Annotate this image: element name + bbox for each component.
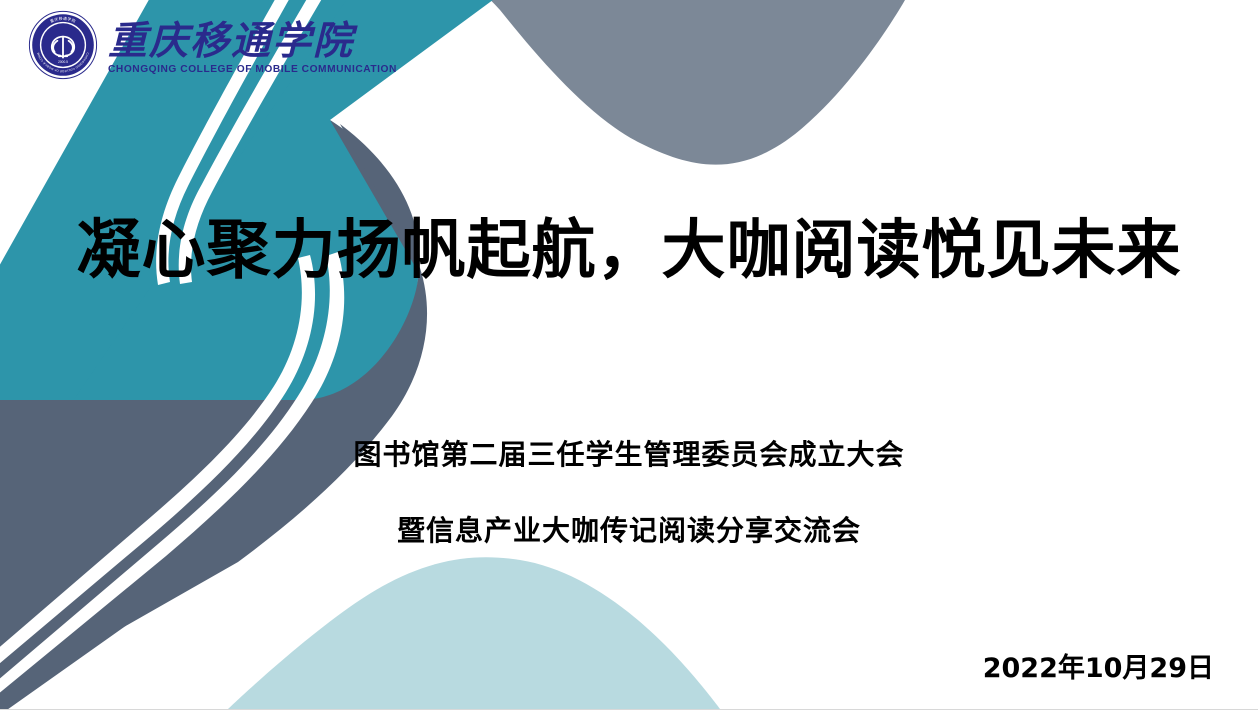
university-logo: 重庆移通学院 CHONGQING COLLEGE OF MOBILE COMM … (28, 6, 428, 84)
logo-wordmark: 重庆移通学院 CHONGQING COLLEGE OF MOBILE COMMU… (108, 17, 398, 75)
slide-subtitle-block: 图书馆第二届三任学生管理委员会成立大会 暨信息产业大咖传记阅读分享交流会 (0, 440, 1258, 547)
logo-english-name: CHONGQING COLLEGE OF MOBILE COMMUNICATIO… (108, 64, 398, 75)
gray-bowl-shape (440, 0, 905, 165)
slide-subtitle-line-2: 暨信息产业大咖传记阅读分享交流会 (0, 516, 1258, 547)
slate-ribbon-lower-wedge (0, 124, 427, 709)
background-decoration (0, 0, 1258, 709)
slate-ribbon-band (0, 120, 425, 709)
svg-text:2000.5: 2000.5 (58, 60, 68, 64)
university-emblem-icon: 重庆移通学院 CHONGQING COLLEGE OF MOBILE COMM … (28, 10, 98, 80)
logo-chinese-name: 重庆移通学院 (108, 17, 398, 63)
slide-date: 2022年10月29日 (983, 646, 1214, 685)
title-slide: 重庆移通学院 CHONGQING COLLEGE OF MOBILE COMM … (0, 0, 1258, 710)
pale-blue-arch-shape (228, 557, 720, 709)
slide-subtitle-line-1: 图书馆第二届三任学生管理委员会成立大会 (0, 440, 1258, 471)
svg-text:重庆移通学院: 重庆移通学院 (108, 19, 358, 63)
slide-main-title: 凝心聚力扬帆起航，大咖阅读悦见未来 (0, 218, 1258, 285)
